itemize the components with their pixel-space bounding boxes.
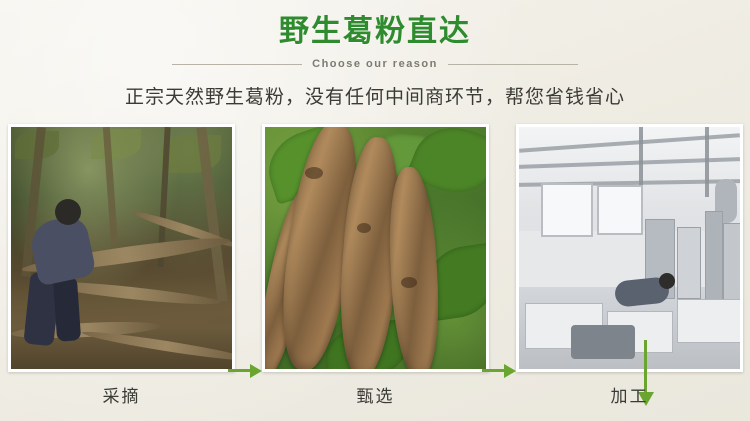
root-blemish: [401, 277, 417, 288]
step-1-card: [8, 124, 235, 372]
step-2-card: [262, 124, 489, 372]
step-3-card: [516, 124, 743, 372]
kudzu-roots-photo: [265, 127, 486, 369]
lead-text: 正宗天然野生葛粉，没有任何中间商环节，帮您省钱省心: [0, 82, 750, 109]
material-cart: [571, 325, 635, 359]
processing-machine: [705, 211, 723, 303]
arrow-shaft: [228, 369, 252, 372]
processing-machine: [723, 223, 740, 303]
promo-banner: 野生葛粉直达 Choose our reason 正宗天然野生葛粉，没有任何中间…: [0, 0, 750, 421]
worker-leg: [53, 276, 81, 342]
arrow-shaft: [482, 369, 506, 372]
arrow-step1-to-step2-icon: [228, 364, 262, 378]
workshop-window: [541, 183, 593, 237]
arrow-head: [504, 364, 516, 378]
worker-head: [55, 199, 81, 225]
processing-machine: [677, 227, 701, 299]
root-blemish: [357, 223, 371, 233]
roof-column: [705, 127, 709, 197]
page-subtitle: Choose our reason: [312, 58, 438, 70]
divider-right: [448, 64, 578, 65]
divider-left: [172, 64, 302, 65]
page-title: 野生葛粉直达: [0, 0, 750, 50]
factory-worker-head: [659, 273, 675, 289]
workshop-window: [597, 185, 643, 235]
foliage-shape: [91, 129, 141, 159]
worker-body: [27, 214, 97, 287]
work-bench: [677, 299, 740, 343]
subtitle-row: Choose our reason: [0, 58, 750, 70]
factory-workshop-photo: [519, 127, 740, 369]
step-1-caption: 采摘: [8, 382, 235, 407]
forest-digging-photo: [11, 127, 232, 369]
foliage-shape: [161, 135, 221, 173]
step-2-caption: 甄选: [262, 382, 489, 407]
process-strip: [0, 124, 750, 374]
root-blemish: [305, 167, 323, 179]
step-3-caption: 加工: [516, 382, 743, 407]
arrow-head: [250, 364, 262, 378]
arrow-step2-to-step3-icon: [482, 364, 516, 378]
